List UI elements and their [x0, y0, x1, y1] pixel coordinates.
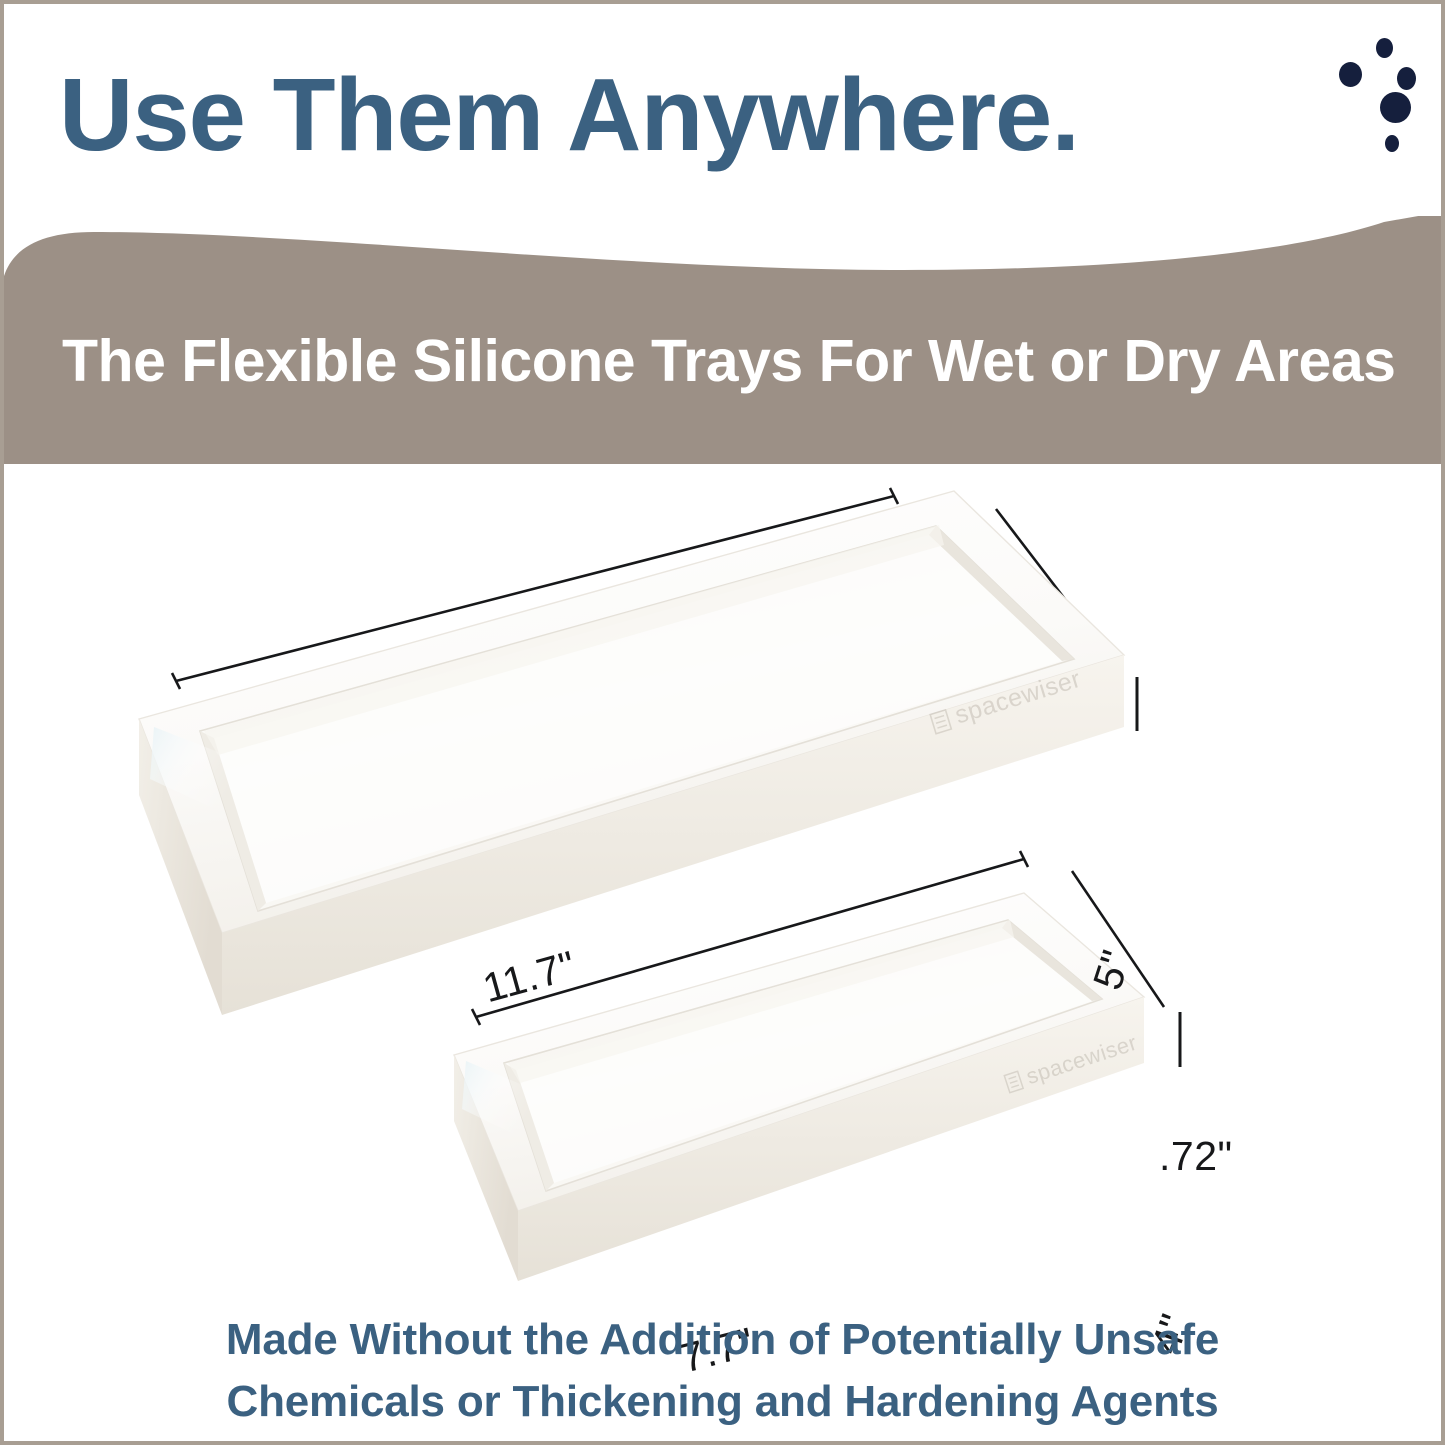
banner-subtitle: The Flexible Silicone Trays For Wet or D…	[62, 328, 1402, 394]
dot-right-icon	[1397, 67, 1416, 90]
dot-top-icon	[1376, 38, 1393, 58]
dot-large-icon	[1380, 92, 1411, 123]
dot-left-icon	[1339, 62, 1362, 87]
subtitle-banner: The Flexible Silicone Trays For Wet or D…	[4, 216, 1441, 464]
infographic-canvas: Use Them Anywhere. The Flexible Silicone…	[0, 0, 1445, 1445]
large-tray-height-label: .72"	[1159, 1133, 1233, 1180]
footer-line-1: Made Without the Addition of Potentially…	[4, 1309, 1441, 1371]
footer-line-2: Chemicals or Thickening and Hardening Ag…	[4, 1371, 1441, 1433]
page-title: Use Them Anywhere.	[59, 56, 1239, 176]
decorative-dots-cluster	[1300, 30, 1430, 160]
dot-bottom-icon	[1385, 135, 1399, 152]
product-illustration: spacewiser	[4, 459, 1441, 1299]
footer-caption: Made Without the Addition of Potentially…	[4, 1309, 1441, 1433]
